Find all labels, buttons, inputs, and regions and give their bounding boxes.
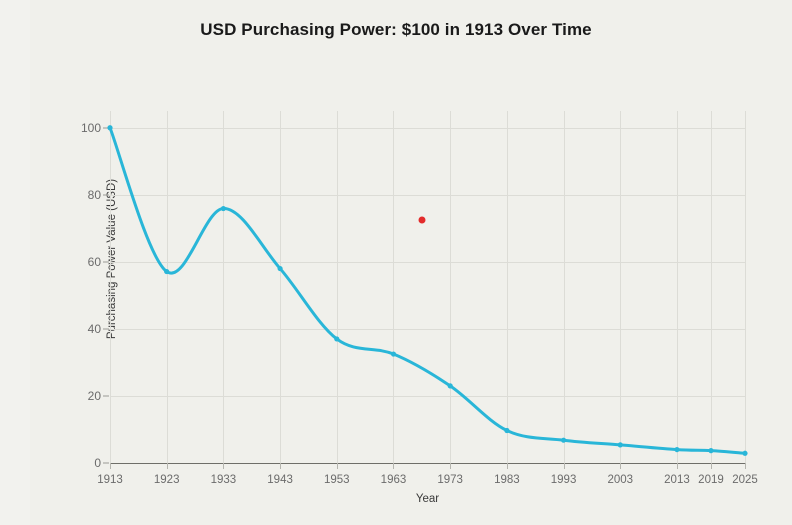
x-tick-label-1953: 1953 <box>324 474 350 486</box>
series-line-path <box>110 128 745 454</box>
x-tick-mark-1953 <box>337 463 338 469</box>
y-tick-mark-0 <box>103 463 109 464</box>
x-axis-title: Year <box>110 493 745 505</box>
data-point-1943 <box>277 266 282 271</box>
y-tick-label-40: 40 <box>88 322 101 336</box>
data-point-2003 <box>618 442 623 447</box>
chart-title: USD Purchasing Power: $100 in 1913 Over … <box>0 20 792 40</box>
anomaly-point-marker <box>418 216 425 223</box>
y-tick-label-0: 0 <box>94 456 101 470</box>
data-point-1923 <box>164 269 169 274</box>
data-point-1973 <box>448 383 453 388</box>
x-tick-label-1983: 1983 <box>494 474 520 486</box>
y-tick-label-60: 60 <box>88 255 101 269</box>
y-tick-label-80: 80 <box>88 188 101 202</box>
x-tick-label-1963: 1963 <box>381 474 407 486</box>
x-tick-mark-1963 <box>393 463 394 469</box>
gridline-y-0 <box>110 463 745 464</box>
x-tick-mark-2013 <box>677 463 678 469</box>
data-point-1933 <box>221 206 226 211</box>
x-tick-label-1933: 1933 <box>211 474 237 486</box>
x-tick-mark-1993 <box>564 463 565 469</box>
x-tick-label-2003: 2003 <box>607 474 633 486</box>
x-tick-label-1993: 1993 <box>551 474 577 486</box>
data-point-2019 <box>708 448 713 453</box>
x-tick-mark-2003 <box>620 463 621 469</box>
y-tick-label-20: 20 <box>88 389 101 403</box>
data-point-1953 <box>334 336 339 341</box>
x-tick-mark-1983 <box>507 463 508 469</box>
x-tick-mark-2019 <box>711 463 712 469</box>
y-tick-mark-40 <box>103 328 109 329</box>
x-tick-label-1973: 1973 <box>437 474 463 486</box>
y-tick-mark-60 <box>103 261 109 262</box>
x-tick-label-1923: 1923 <box>154 474 180 486</box>
data-point-1913 <box>107 125 112 130</box>
x-tick-mark-1913 <box>110 463 111 469</box>
x-tick-label-2013: 2013 <box>664 474 690 486</box>
series-markers <box>107 125 747 456</box>
plot-area: Purchasing Power Value (USD) Year 020406… <box>110 111 745 463</box>
x-tick-mark-1973 <box>450 463 451 469</box>
x-tick-mark-1943 <box>280 463 281 469</box>
data-point-1963 <box>391 351 396 356</box>
data-point-1993 <box>561 438 566 443</box>
x-tick-mark-2025 <box>745 463 746 469</box>
y-tick-mark-20 <box>103 395 109 396</box>
chart-container: USD Purchasing Power: $100 in 1913 Over … <box>0 0 792 525</box>
x-tick-mark-1923 <box>167 463 168 469</box>
x-tick-label-1943: 1943 <box>267 474 293 486</box>
data-point-2025 <box>742 451 747 456</box>
y-tick-label-100: 100 <box>81 121 101 135</box>
data-point-2013 <box>674 447 679 452</box>
data-point-1983 <box>504 428 509 433</box>
line-series <box>110 111 745 463</box>
y-tick-mark-80 <box>103 194 109 195</box>
x-tick-label-2025: 2025 <box>732 474 758 486</box>
gridline-x-2025 <box>745 111 746 463</box>
x-tick-label-1913: 1913 <box>97 474 123 486</box>
x-tick-label-2019: 2019 <box>698 474 724 486</box>
x-tick-mark-1933 <box>223 463 224 469</box>
